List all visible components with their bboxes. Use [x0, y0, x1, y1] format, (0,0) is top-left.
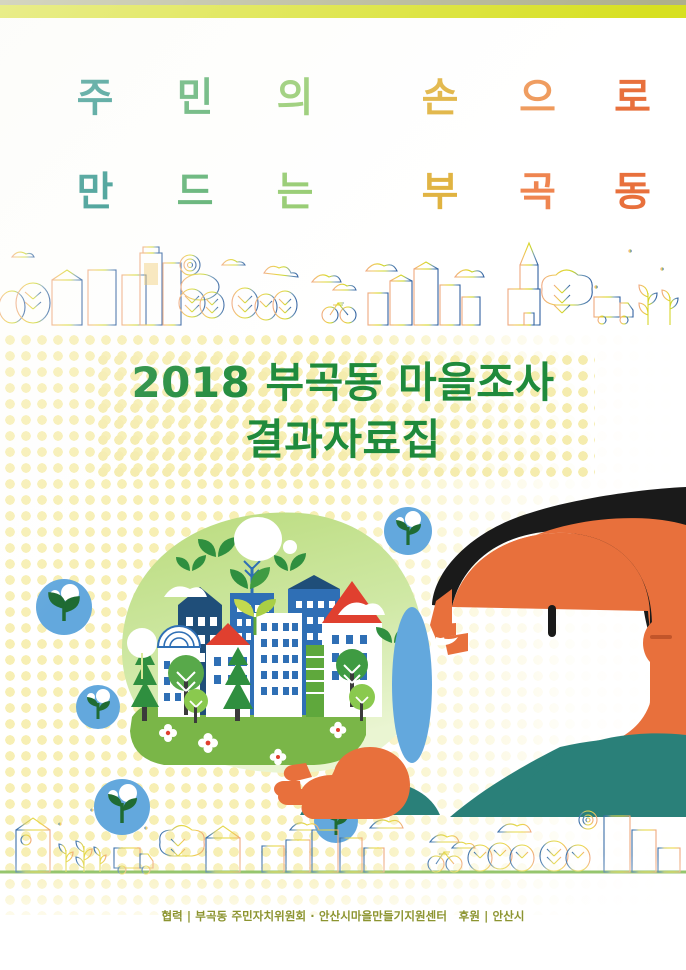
- headline-char: 으: [490, 68, 585, 128]
- eye: [548, 605, 556, 637]
- page-title: 2018 부곡동 마을조사 결과자료집: [0, 355, 686, 469]
- credits-line: 협력 | 부곡동 주민자치위원회 · 안산시마을만들기지원센터 후원 | 안산시: [0, 908, 686, 924]
- headline-char: 손: [390, 68, 490, 128]
- headline-char: 민: [145, 68, 245, 128]
- document-cover: 주 민 의 손 으 로 만 드 는 부 곡 동: [0, 0, 686, 970]
- headline-char: 곡: [490, 162, 585, 222]
- headline-line-1: 주 민 의 손 으 로: [0, 68, 686, 128]
- page-title-line-1: 2018 부곡동 마을조사: [0, 355, 686, 411]
- sprout-badge: [384, 507, 432, 555]
- ear: [643, 617, 686, 669]
- headline-char: 만: [45, 162, 145, 222]
- headline-char: 주: [45, 68, 145, 128]
- headline-char: 는: [245, 162, 345, 222]
- headline-char: 로: [585, 68, 680, 128]
- cover-top-bar: [0, 5, 686, 18]
- headline-char: 동: [585, 162, 680, 222]
- headline-line-2: 만 드 는 부 곡 동: [0, 162, 686, 222]
- skyline-lineart-top: [0, 235, 686, 330]
- headline-char: 의: [245, 68, 345, 128]
- magnifier-lens: [392, 607, 432, 763]
- sprout-badge: [36, 579, 92, 635]
- sprout-badge: [76, 685, 120, 729]
- page-title-line-2: 결과자료집: [0, 411, 686, 469]
- headline-char: 드: [145, 162, 245, 222]
- headline-char: 부: [390, 162, 490, 222]
